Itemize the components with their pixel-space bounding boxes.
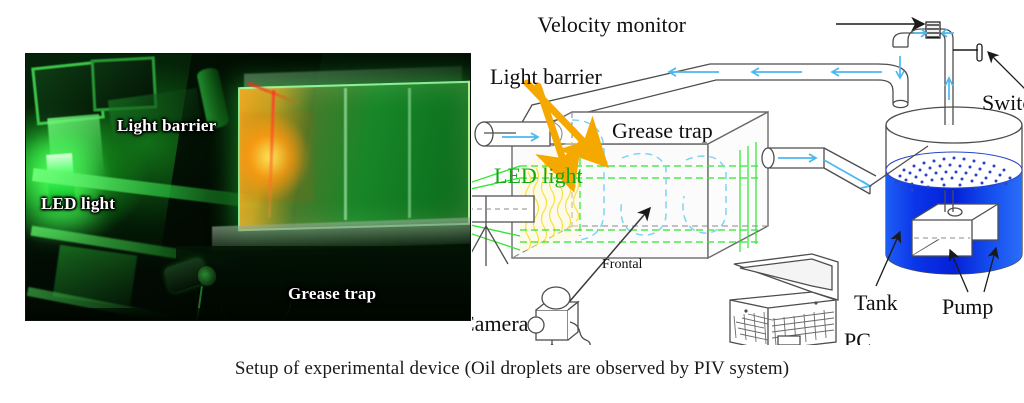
photo-label-grease-trap: Grease trap (288, 284, 376, 304)
diagram-label-light-barrier: Light barrier (490, 64, 602, 89)
trap-inlet-pipe (475, 122, 550, 146)
diagram-label-camera: Camera (472, 311, 529, 336)
figure-caption: Setup of experimental device (Oil drople… (0, 358, 1024, 380)
diagram-label-velocity-monitor: Velocity monitor (538, 12, 687, 37)
diagram-label-tank: Tank (854, 290, 898, 315)
diagram-label-led-light: LED light (494, 163, 583, 188)
figure-container: Light barrier LED light Grease trap Came… (0, 0, 1024, 403)
diagram-label-frontal: Frontal (602, 257, 643, 272)
camera-body (528, 287, 578, 340)
diagram-label-grease-trap: Grease trap (612, 118, 713, 143)
photo-baffle-2 (408, 88, 411, 218)
switch-valve (953, 44, 1024, 92)
camera-tripod (528, 340, 576, 345)
velocity-monitor-sensor (926, 22, 940, 38)
diagram-label-switch: Switch (982, 90, 1024, 115)
photo-label-led-light: LED light (41, 194, 115, 214)
photo-baffle-1 (344, 88, 347, 220)
led-light-projector (472, 196, 534, 222)
photo-label-light-barrier: Light barrier (117, 116, 216, 136)
photo-floor (26, 308, 471, 321)
trap-outlet-pipe (762, 148, 876, 194)
experiment-photograph: Light barrier LED light Grease trap Came… (25, 53, 471, 321)
schematic-diagram: Velocity monitor Switch Light barrier LE… (472, 0, 1024, 345)
camera-cable (570, 322, 720, 345)
diagram-label-pump: Pump (942, 294, 993, 319)
laptop-pc (730, 254, 838, 345)
photo-oil-plume (240, 112, 314, 202)
diagram-label-pc: PC (844, 328, 871, 345)
